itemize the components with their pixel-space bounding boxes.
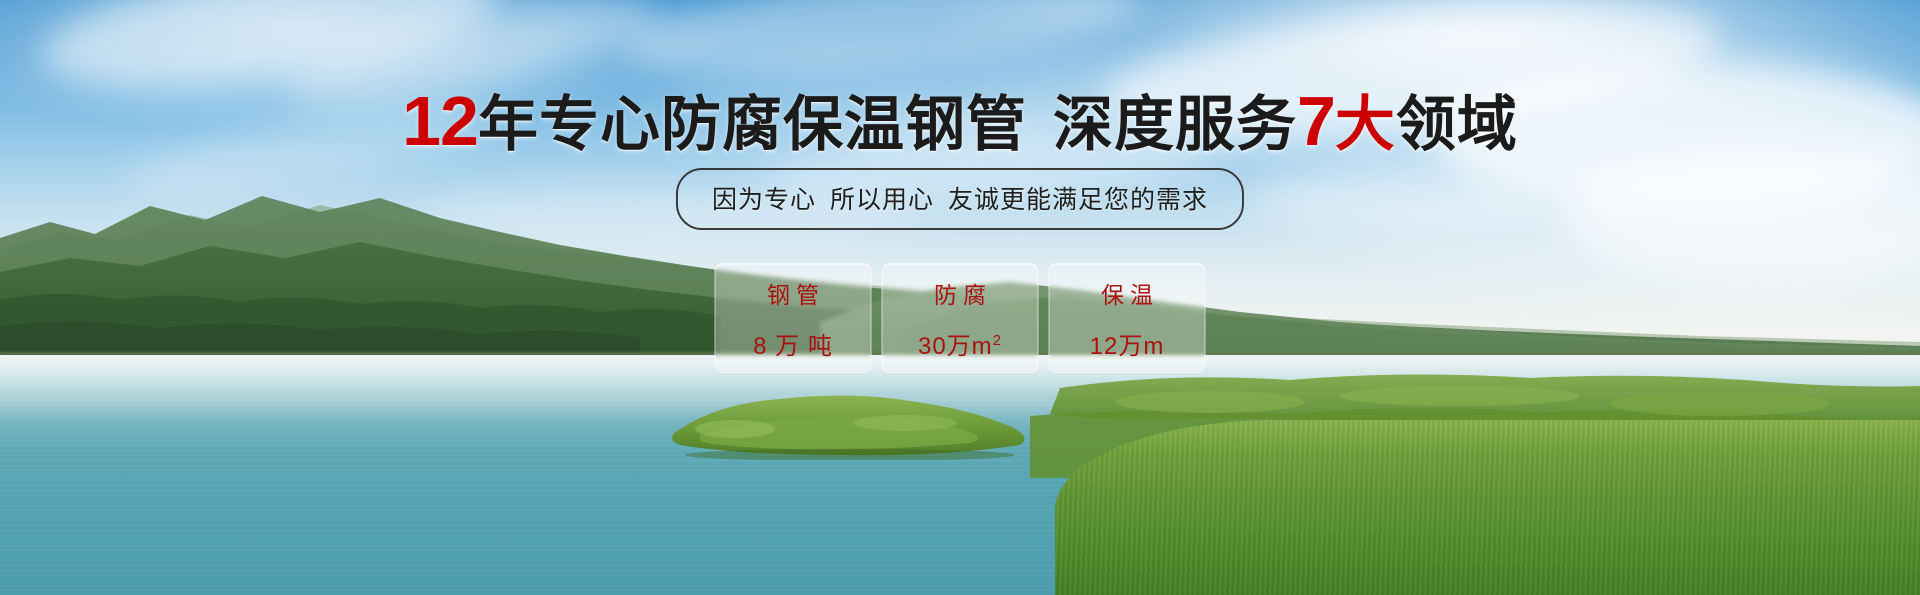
- stat-card-steel-pipe: 钢管 8 万 吨: [715, 263, 872, 373]
- stat-card-insulation: 保温 12万m: [1049, 263, 1206, 373]
- headline-part-two: 深度服务: [1053, 91, 1297, 158]
- subtitle-pill: 因为专心所以用心友诚更能满足您的需求: [676, 168, 1244, 230]
- headline-part-one: 年专心防腐保温钢管: [478, 91, 1027, 158]
- stat-card-value: 8 万 吨: [753, 326, 833, 361]
- stat-card-title: 防腐: [928, 276, 992, 310]
- stat-card-value: 30万m2: [918, 326, 1002, 361]
- stat-card-anticorrosion: 防腐 30万m2: [882, 263, 1039, 373]
- stat-card-title: 钢管: [761, 276, 825, 310]
- subtitle-part-two: 所以用心: [830, 186, 934, 214]
- headline-fields-number: 7: [1297, 82, 1335, 160]
- subtitle-part-three: 友诚更能满足您的需求: [948, 186, 1208, 214]
- stat-card-title: 保温: [1095, 276, 1159, 310]
- stat-value-text: 8 万 吨: [753, 333, 833, 360]
- stat-card-group: 钢管 8 万 吨 防腐 30万m2 保温 12万m: [715, 263, 1206, 373]
- banner-content: 12年专心防腐保温钢管深度服务7大领域 因为专心所以用心友诚更能满足您的需求 钢…: [0, 0, 1920, 595]
- stat-value-superscript: 2: [993, 332, 1002, 349]
- promo-banner: 12年专心防腐保温钢管深度服务7大领域 因为专心所以用心友诚更能满足您的需求 钢…: [0, 0, 1920, 595]
- headline: 12年专心防腐保温钢管深度服务7大领域: [0, 86, 1920, 156]
- headline-part-three: 领域: [1396, 91, 1518, 158]
- headline-fields-unit: 大: [1335, 91, 1396, 158]
- stat-card-value: 12万m: [1090, 326, 1165, 361]
- stat-value-text: 12万m: [1090, 333, 1165, 360]
- headline-years-number: 12: [402, 82, 478, 160]
- stat-value-text: 30万m: [918, 333, 993, 360]
- subtitle-part-one: 因为专心: [712, 186, 816, 214]
